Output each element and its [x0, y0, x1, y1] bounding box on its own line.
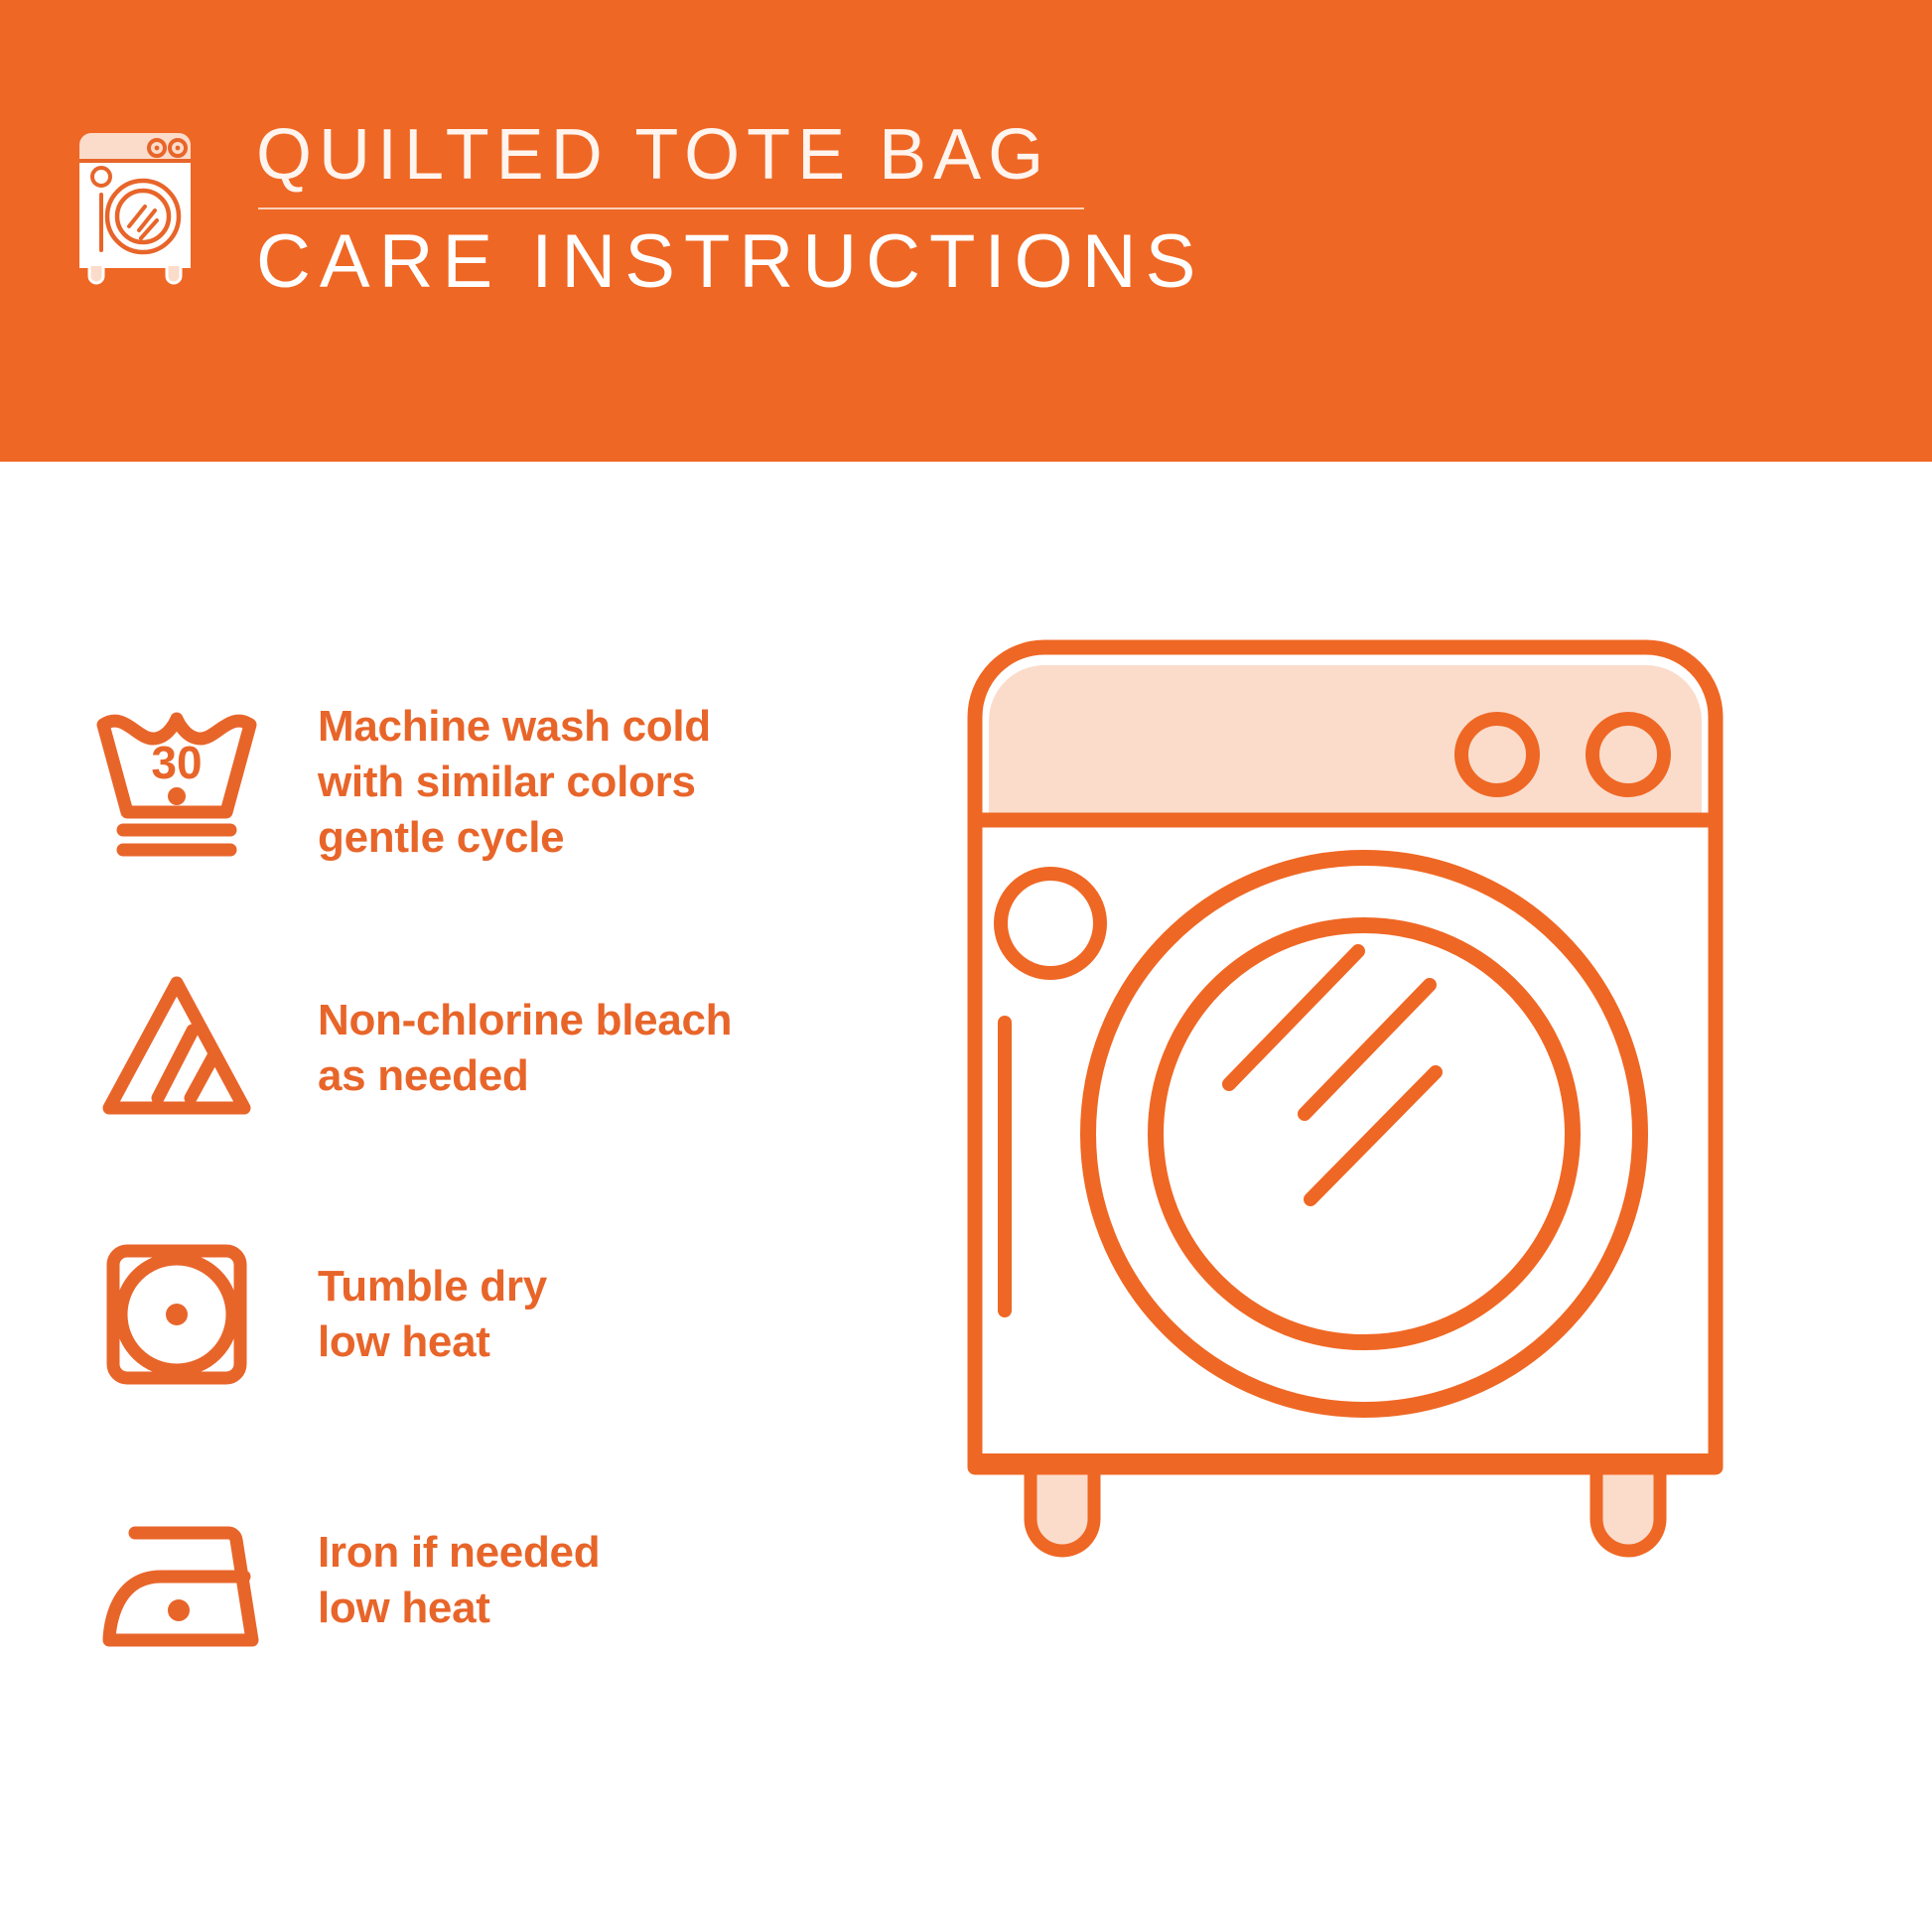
header-titles: QUILTED TOTE BAG CARE INSTRUCTIONS — [256, 119, 1204, 301]
care-label-line: Machine wash cold — [318, 699, 711, 755]
header-banner: QUILTED TOTE BAG CARE INSTRUCTIONS — [0, 0, 1932, 462]
care-item-tumble-dry: Tumble dry low heat — [77, 1199, 931, 1430]
care-item-label: Tumble dry low heat — [318, 1259, 547, 1371]
care-item-label: Iron if needed low heat — [318, 1525, 600, 1637]
care-label-line: Non-chlorine bleach — [318, 993, 732, 1048]
care-label-line: as needed — [318, 1048, 732, 1104]
tumble-dry-low-heat-icon — [77, 1227, 276, 1402]
care-label-line: with similar colors — [318, 755, 711, 810]
washing-machine-illustration — [953, 625, 1906, 1618]
care-label-line: low heat — [318, 1581, 600, 1636]
wash-basin-30-gentle-icon: 30 — [77, 695, 276, 870]
care-instruction-list: 30 Machine wash cold with similar colors… — [77, 667, 931, 1731]
care-label-line: Iron if needed — [318, 1525, 600, 1581]
care-item-label: Non-chlorine bleach as needed — [318, 993, 732, 1105]
care-instructions-page: QUILTED TOTE BAG CARE INSTRUCTIONS 30 — [0, 0, 1932, 1932]
page-subtitle: CARE INSTRUCTIONS — [256, 223, 1204, 301]
care-label-line: Tumble dry — [318, 1259, 547, 1314]
header-content: QUILTED TOTE BAG CARE INSTRUCTIONS — [71, 119, 1204, 301]
bleach-triangle-nonchlorine-icon — [77, 961, 276, 1136]
care-item-machine-wash: 30 Machine wash cold with similar colors… — [77, 667, 931, 897]
iron-low-heat-icon — [77, 1493, 276, 1668]
wash-temperature-value: 30 — [151, 737, 202, 788]
care-label-line: gentle cycle — [318, 810, 711, 866]
care-label-line: low heat — [318, 1314, 547, 1370]
title-divider — [258, 207, 1084, 209]
washing-machine-icon — [71, 127, 207, 286]
care-item-iron: Iron if needed low heat — [77, 1465, 931, 1696]
page-title: QUILTED TOTE BAG — [256, 119, 1204, 192]
care-item-bleach: Non-chlorine bleach as needed — [77, 933, 931, 1164]
care-item-label: Machine wash cold with similar colors ge… — [318, 699, 711, 867]
